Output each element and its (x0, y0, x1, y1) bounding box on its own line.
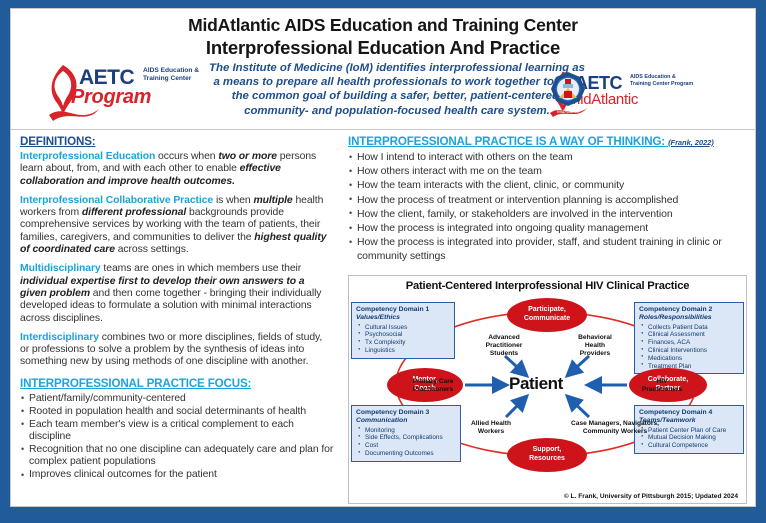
definitions-heading: DEFINITIONS: (20, 135, 334, 148)
practice-focus-item: Patient/family/community-centered (20, 393, 334, 405)
competency-item: Collects Patient Data (639, 324, 740, 332)
oval-line-2: Communicate (524, 315, 570, 322)
page-title: MidAtlantic AIDS Education and Training … (19, 15, 747, 59)
aetc-subtitle-left-2: Training Center (143, 76, 191, 83)
role-label-line: Behavioral (578, 334, 612, 341)
diagram-canvas: Competency Domain 1 Values/Ethics Cultur… (349, 292, 746, 476)
definition-text: occurs when (155, 151, 218, 162)
definition-emphasis: two or more (218, 151, 277, 162)
content-area: DEFINITIONS: Interprofessional Education… (10, 130, 756, 507)
role-label-primary-care-practitioners: Primary CarePractitioners (401, 378, 465, 394)
definition-item: Interprofessional Collaborative Practice… (20, 195, 334, 256)
competency-item: Clinical Assessment (639, 331, 740, 339)
way-of-thinking-heading: INTERPROFESSIONAL PRACTICE IS A WAY OF T… (348, 135, 747, 148)
way-of-thinking-list: How I intend to interact with others on … (348, 151, 747, 263)
role-label-line: Case Managers, Navigators, (571, 420, 659, 427)
role-label-line: Students (490, 350, 518, 357)
competency-items: MonitoringSide Effects, ComplicationsCos… (356, 427, 457, 458)
role-label-line: HIV (657, 378, 668, 385)
poster-root: MidAtlantic AIDS Education and Training … (0, 0, 766, 523)
svg-text:MidAtlantic: MidAtlantic (557, 109, 580, 114)
aetc-midatlantic-logo: AETC AIDS Education & Training Center Pr… (547, 65, 737, 123)
competency-item: Medications (639, 355, 740, 363)
practice-focus-heading: INTERPROFESSIONAL PRACTICE FOCUS: (20, 377, 334, 390)
aetc-subtitle-left-1: AIDS Education & (143, 68, 199, 75)
role-label-line: Health (585, 342, 605, 349)
competency-item: Tx Complexity (356, 339, 451, 347)
title-line-1: MidAtlantic AIDS Education and Training … (19, 15, 747, 36)
oval-participate-communicate: Participate, Communicate (507, 298, 587, 332)
aetc-program-word: Program (71, 86, 151, 109)
definition-item: Interprofessional Education occurs when … (20, 151, 334, 188)
definition-term: Interprofessional Education (20, 151, 155, 162)
competency-title: Competency Domain 1 (356, 306, 451, 314)
competency-subtitle: Values/Ethics (356, 314, 451, 322)
way-of-thinking-item: How the process is integrated into provi… (348, 236, 747, 263)
patient-center-label: Patient (509, 374, 563, 394)
competency-items: Cultural IssuesPsychosocialTx Complexity… (356, 324, 451, 355)
practice-focus-item: Rooted in population health and social d… (20, 406, 334, 418)
definition-emphasis: multiple (253, 195, 292, 206)
university-seal-icon: MidAtlantic (547, 71, 589, 117)
competency-item: Finances, ACA (639, 339, 740, 347)
competency-item: Side Effects, Complications (356, 434, 457, 442)
practice-focus-list: Patient/family/community-centeredRooted … (20, 393, 334, 482)
role-label-line: Workers (478, 428, 504, 435)
role-label-line: Practitioners (642, 386, 682, 393)
role-label-line: Practitioners (413, 386, 453, 393)
competency-items: Collects Patient DataClinical Assessment… (639, 324, 740, 371)
thinking-column: INTERPROFESSIONAL PRACTICE IS A WAY OF T… (342, 130, 755, 506)
definition-term: Interprofessional Collaborative Practice (20, 195, 213, 206)
title-line-2: Interprofessional Education And Practice (19, 36, 747, 59)
competency-item: Monitoring (356, 427, 457, 435)
competency-item: Documenting Outcomes (356, 450, 457, 458)
practice-focus-item: Improves clinical outcomes for the patie… (20, 469, 334, 481)
competency-subtitle: Communication (356, 417, 457, 425)
role-label-case-managers-navigators: Case Managers, Navigators,Community Work… (553, 420, 677, 436)
definition-term: Interdisciplinary (20, 332, 99, 343)
way-of-thinking-item: How I intend to interact with others on … (348, 151, 747, 164)
practice-focus-item: Each team member's view is a critical co… (20, 419, 334, 444)
definition-text: is when (213, 195, 253, 206)
definition-text: across settings. (115, 244, 189, 255)
aetc-subtitle-right-1: AIDS Education & (630, 75, 676, 81)
role-label-line: Primary Care (412, 378, 453, 385)
competency-item: Cultural Competence (639, 442, 740, 450)
definition-term: Multidisciplinary (20, 263, 101, 274)
competency-subtitle: Roles/Responsibilities (639, 314, 740, 322)
competency-item: Linguistics (356, 347, 451, 355)
way-of-thinking-item: How the process of treatment or interven… (348, 194, 747, 207)
aetc-program-logo: AETC AIDS Education & Training Center Pr… (43, 59, 205, 125)
way-of-thinking-heading-text: INTERPROFESSIONAL PRACTICE IS A WAY OF T… (348, 135, 665, 148)
way-of-thinking-item: How the team interacts with the client, … (348, 179, 747, 192)
way-of-thinking-item: How the client, family, or stakeholders … (348, 208, 747, 221)
competency-item: Cost (356, 442, 457, 450)
role-label-line: Allied Health (471, 420, 511, 427)
role-label-line: Practitioner (486, 342, 523, 349)
hiv-clinical-practice-diagram: Patient-Centered Interprofessional HIV C… (348, 275, 747, 504)
role-label-advanced-practitioner-students: AdvancedPractitionerStudents (467, 334, 541, 357)
definitions-list: Interprofessional Education occurs when … (20, 151, 334, 369)
definition-emphasis: different professional (82, 207, 186, 218)
definition-text: teams are ones in which members use thei… (101, 263, 302, 274)
definition-item: Interdisciplinary combines two or more d… (20, 332, 334, 369)
oval-support-resources: Support, Resources (507, 438, 587, 472)
competency-title: Competency Domain 3 (356, 409, 457, 417)
competency-box-domain-2: Competency Domain 2 Roles/Responsibiliti… (634, 302, 744, 374)
competency-title: Competency Domain 2 (639, 306, 740, 314)
aetc-subtitle-right-2: Training Center Program (630, 82, 693, 88)
iom-quote: The Institute of Medicine (IoM) identifi… (207, 61, 587, 118)
header-banner: MidAtlantic AIDS Education and Training … (10, 8, 756, 130)
role-label-allied-health-workers: Allied HealthWorkers (455, 420, 527, 436)
way-of-thinking-item: How others interact with me on the team (348, 165, 747, 178)
way-of-thinking-item: How the process is integrated into ongoi… (348, 222, 747, 235)
definitions-column: DEFINITIONS: Interprofessional Education… (11, 130, 342, 506)
role-label-line: Community Workers (583, 428, 647, 435)
role-label-behavioral-health-providers: BehavioralHealthProviders (559, 334, 631, 357)
role-label-line: Providers (580, 350, 610, 357)
competency-item: Psychosocial (356, 331, 451, 339)
diagram-copyright: © L. Frank, University of Pittsburgh 201… (564, 493, 738, 500)
diagram-title: Patient-Centered Interprofessional HIV C… (349, 280, 746, 292)
role-label-hiv-practitioners: HIVPractitioners (631, 378, 693, 394)
oval-line-2: Resources (529, 455, 565, 462)
way-of-thinking-citation: (Frank, 2022) (668, 138, 714, 147)
oval-line-1: Support, (533, 446, 562, 453)
competency-box-domain-1: Competency Domain 1 Values/Ethics Cultur… (351, 302, 455, 359)
practice-focus-item: Recognition that no one discipline can a… (20, 444, 334, 469)
role-label-line: Advanced (488, 334, 520, 341)
oval-line-1: Participate, (528, 306, 566, 313)
competency-item: Clinical Interventions (639, 347, 740, 355)
competency-item: Cultural Issues (356, 324, 451, 332)
competency-title: Competency Domain 4 (639, 409, 740, 417)
definition-item: Multidisciplinary teams are ones in whic… (20, 263, 334, 324)
competency-box-domain-3: Competency Domain 3 Communication Monito… (351, 405, 461, 462)
